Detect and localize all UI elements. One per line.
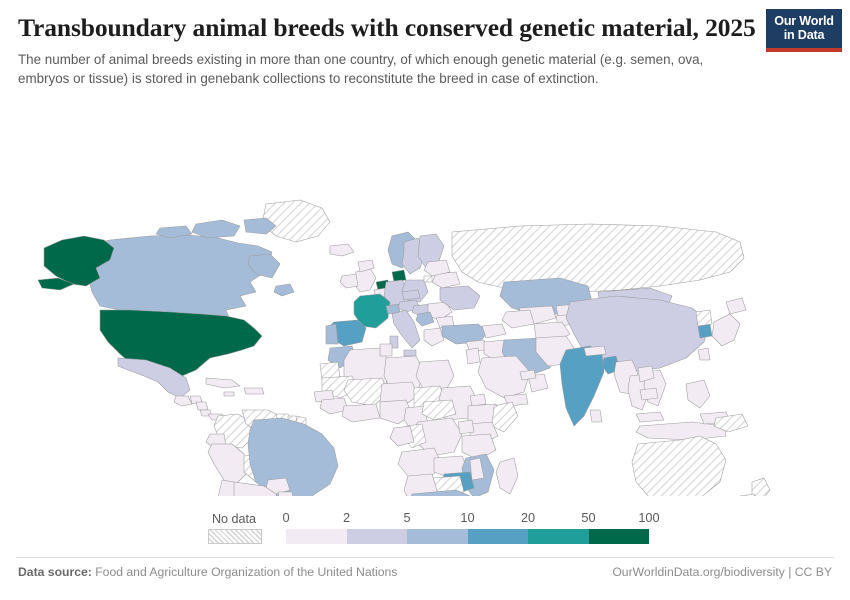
country-tunisia[interactable] xyxy=(380,344,392,356)
owid-logo-line1: Our World xyxy=(766,14,842,28)
owid-logo[interactable]: Our World in Data xyxy=(766,9,842,52)
legend-tick-50: 50 xyxy=(581,510,595,525)
legend-color-ramp[interactable] xyxy=(286,529,649,544)
country-georgia-arm-az[interactable] xyxy=(482,324,506,338)
country-philippines[interactable] xyxy=(686,380,710,408)
country-north-korea[interactable] xyxy=(696,310,712,326)
country-canada[interactable] xyxy=(274,284,294,296)
legend-tick-0: 0 xyxy=(282,510,289,525)
country-united-kingdom[interactable] xyxy=(354,268,376,292)
attribution-link[interactable]: OurWorldinData.org/biodiversity | CC BY xyxy=(612,565,832,579)
country-uruguay[interactable] xyxy=(278,492,294,496)
country-italy[interactable] xyxy=(404,350,416,356)
data-source-value: Food and Agriculture Organization of the… xyxy=(95,565,397,579)
legend-no-data-swatch[interactable] xyxy=(208,529,262,544)
country-guatemala[interactable] xyxy=(174,396,192,406)
chart-subtitle: The number of animal breeds existing in … xyxy=(18,50,746,88)
page-title: Transboundary animal breeds with conserv… xyxy=(18,14,758,43)
country-taiwan[interactable] xyxy=(698,348,710,360)
country-eritrea[interactable] xyxy=(470,394,486,406)
country-israel-jordan[interactable] xyxy=(466,348,480,364)
country-czechia[interactable] xyxy=(402,290,420,300)
country-nepal[interactable] xyxy=(584,346,606,356)
country-malaysia[interactable] xyxy=(636,412,664,422)
footer-divider xyxy=(16,557,834,558)
chart-footer: Data source: Food and Agriculture Organi… xyxy=(0,565,850,579)
chart-header: Transboundary animal breeds with conserv… xyxy=(0,0,850,88)
country-egypt[interactable] xyxy=(416,360,454,390)
legend-tick-labels: 025102050100 xyxy=(286,510,649,528)
country-nicaragua[interactable] xyxy=(196,402,208,410)
data-source: Data source: Food and Agriculture Organi… xyxy=(18,565,397,579)
country-somalia[interactable] xyxy=(492,402,518,432)
world-choropleth-map[interactable] xyxy=(0,96,850,496)
country-russia[interactable] xyxy=(452,224,744,292)
country-cuba[interactable] xyxy=(206,378,240,388)
country-brazil[interactable] xyxy=(248,418,338,496)
country-south-korea[interactable] xyxy=(698,324,712,338)
country-australia[interactable] xyxy=(632,436,726,496)
country-peru[interactable] xyxy=(208,444,248,484)
country-ivory-coast-ghana[interactable] xyxy=(342,404,380,422)
legend-bin-5[interactable] xyxy=(589,529,650,544)
country-gabon[interactable] xyxy=(390,426,414,446)
country-madagascar[interactable] xyxy=(496,458,518,494)
country-ireland[interactable] xyxy=(340,274,358,288)
country-new-zealand[interactable] xyxy=(752,478,770,496)
country-indonesia[interactable] xyxy=(636,422,726,440)
country-portugal[interactable] xyxy=(326,324,338,344)
legend-bin-4[interactable] xyxy=(528,529,589,544)
owid-logo-line2: in Data xyxy=(766,28,842,42)
country-uganda[interactable] xyxy=(458,420,474,434)
country-cambodia[interactable] xyxy=(640,388,658,400)
country-turkmenistan[interactable] xyxy=(502,310,534,328)
country-uae-qatar[interactable] xyxy=(520,370,536,380)
legend-tick-10: 10 xyxy=(460,510,474,525)
country-canada[interactable] xyxy=(192,220,240,238)
legend-tick-20: 20 xyxy=(521,510,535,525)
country-japan[interactable] xyxy=(712,314,740,346)
legend-bin-1[interactable] xyxy=(347,529,408,544)
country-sri-lanka[interactable] xyxy=(590,410,602,422)
country-greenland[interactable] xyxy=(262,200,330,242)
legend-bin-3[interactable] xyxy=(468,529,529,544)
country-jamaica[interactable] xyxy=(224,392,234,396)
legend-bin-0[interactable] xyxy=(286,529,347,544)
country-greece[interactable] xyxy=(424,328,444,346)
map-legend: No data 025102050100 xyxy=(0,505,850,553)
country-russia[interactable] xyxy=(424,276,432,282)
legend-tick-100: 100 xyxy=(638,510,659,525)
legend-tick-2: 2 xyxy=(343,510,350,525)
country-iceland[interactable] xyxy=(330,244,354,256)
legend-bin-2[interactable] xyxy=(407,529,468,544)
legend-tick-5: 5 xyxy=(403,510,410,525)
map-svg[interactable] xyxy=(0,96,850,496)
country-haiti-dr[interactable] xyxy=(244,388,264,394)
legend-no-data-label: No data xyxy=(201,512,267,526)
country-japan[interactable] xyxy=(726,298,746,314)
data-source-label: Data source: xyxy=(18,565,92,579)
countries-layer xyxy=(38,200,770,496)
